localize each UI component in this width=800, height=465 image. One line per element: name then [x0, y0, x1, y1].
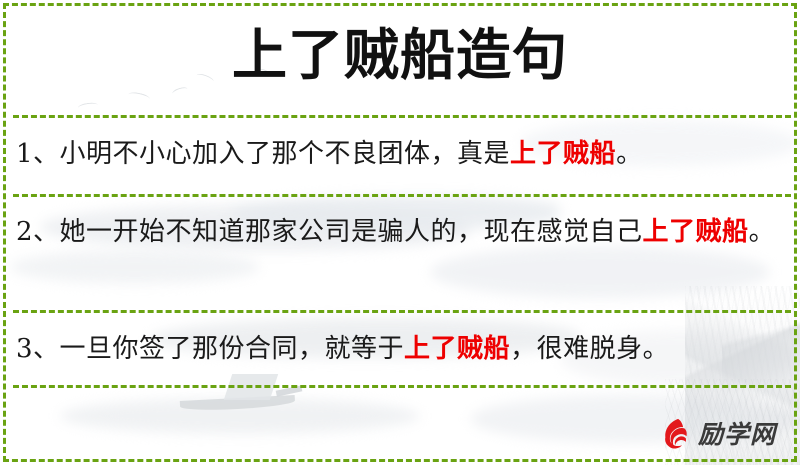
example-sentence-3: 3、一旦你签了那份合同，就等于上了贼船，很难脱身。: [16, 327, 786, 371]
example-sentence-2: 2、她一开始不知道那家公司是骗人的，现在感觉自己上了贼船。: [16, 210, 786, 254]
poster-canvas: 上了贼船造句 1、小明不小心加入了那个不良团体，真是上了贼船。 2、她一开始不知…: [0, 0, 800, 465]
sentence-3-suffix: ，很难脱身。: [510, 334, 669, 364]
sentence-1-suffix: 。: [616, 139, 643, 169]
example-sentence-1: 1、小明不小心加入了那个不良团体，真是上了贼船。: [16, 132, 786, 176]
sentence-2-highlight-idiom: 上了贼船: [643, 217, 749, 247]
sentence-2-suffix: 。: [749, 217, 776, 247]
mist-wash-shape: [10, 250, 260, 284]
divider-after-sentence-2: [13, 310, 791, 313]
sentence-1-highlight-idiom: 上了贼船: [510, 139, 616, 169]
sentence-3-prefix: 3、一旦你签了那份合同，就等于: [16, 334, 404, 364]
bird-stroke-icon: [127, 91, 150, 103]
red-swirl-flame-icon: [655, 416, 691, 452]
divider-after-sentence-3: [13, 385, 791, 388]
site-name-label: 励学网: [698, 422, 776, 447]
bird-stroke-icon: [78, 102, 99, 112]
sentence-2-prefix: 2、她一开始不知道那家公司是骗人的，现在感觉自己: [16, 217, 643, 247]
divider-after-sentence-1: [13, 194, 791, 197]
sentence-3-highlight-idiom: 上了贼船: [404, 334, 510, 364]
sentence-1-prefix: 1、小明不小心加入了那个不良团体，真是: [16, 139, 510, 169]
page-title: 上了贼船造句: [0, 20, 800, 90]
mist-wash-shape: [60, 398, 420, 434]
boat-silhouette-icon: [180, 395, 295, 412]
site-watermark-logo: 励学网: [655, 416, 776, 452]
divider-below-title: [13, 115, 791, 118]
